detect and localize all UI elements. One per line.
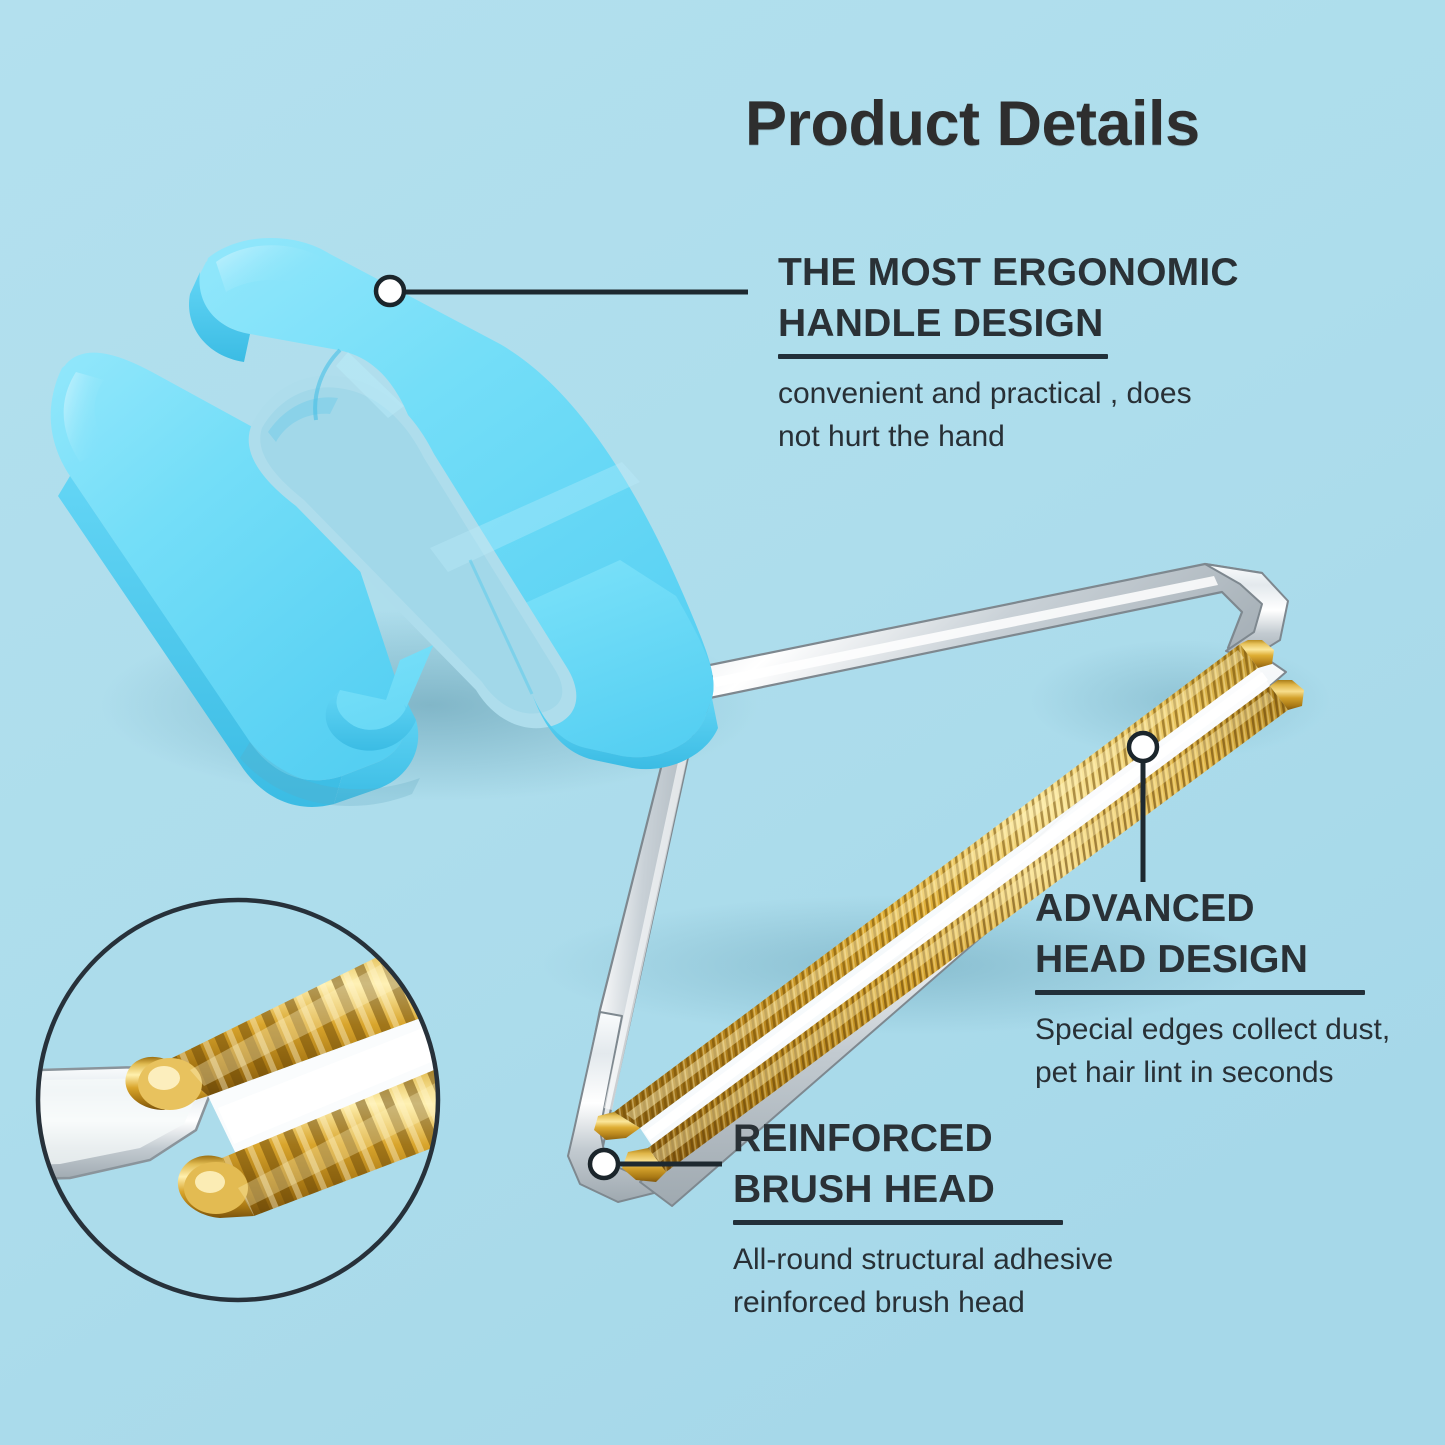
callout-body-line-1: All-round structural adhesive [733, 1239, 1113, 1282]
callout-underline-rule [733, 1220, 1063, 1225]
callout-reinforced-brush-head: REINFORCED BRUSH HEAD All-round structur… [733, 1114, 1113, 1325]
callout-underline-rule [778, 354, 1108, 359]
callout-body-line-1: convenient and practical , does [778, 373, 1239, 416]
callout-heading: THE MOST ERGONOMIC HANDLE DESIGN [778, 248, 1239, 349]
callout-heading-line-1: REINFORCED [733, 1114, 1113, 1165]
callout-heading-line-2: HANDLE DESIGN [778, 299, 1239, 350]
callout-heading-line-1: ADVANCED [1035, 884, 1390, 935]
callout-heading-line-1: THE MOST ERGONOMIC [778, 248, 1239, 299]
product-infographic: Product Details THE MOST ERGONOMIC HANDL… [0, 0, 1445, 1445]
callout-heading-line-2: HEAD DESIGN [1035, 935, 1390, 986]
callout-heading-line-2: BRUSH HEAD [733, 1165, 1113, 1216]
product-illustration [0, 0, 1445, 1445]
callout-body: All-round structural adhesive reinforced… [733, 1239, 1113, 1324]
callout-body-line-2: not hurt the hand [778, 416, 1239, 459]
callout-body: convenient and practical , does not hurt… [778, 373, 1239, 458]
callout-body-line-1: Special edges collect dust, [1035, 1009, 1390, 1052]
page-title: Product Details [745, 88, 1200, 160]
callout-body-line-2: reinforced brush head [733, 1282, 1113, 1325]
callout-heading: ADVANCED HEAD DESIGN [1035, 884, 1390, 985]
callout-heading: REINFORCED BRUSH HEAD [733, 1114, 1113, 1215]
callout-underline-rule [1035, 990, 1365, 995]
callout-body: Special edges collect dust, pet hair lin… [1035, 1009, 1390, 1094]
callout-body-line-2: pet hair lint in seconds [1035, 1052, 1390, 1095]
callout-ergonomic-handle: THE MOST ERGONOMIC HANDLE DESIGN conveni… [778, 248, 1239, 459]
callout-advanced-head: ADVANCED HEAD DESIGN Special edges colle… [1035, 884, 1390, 1095]
